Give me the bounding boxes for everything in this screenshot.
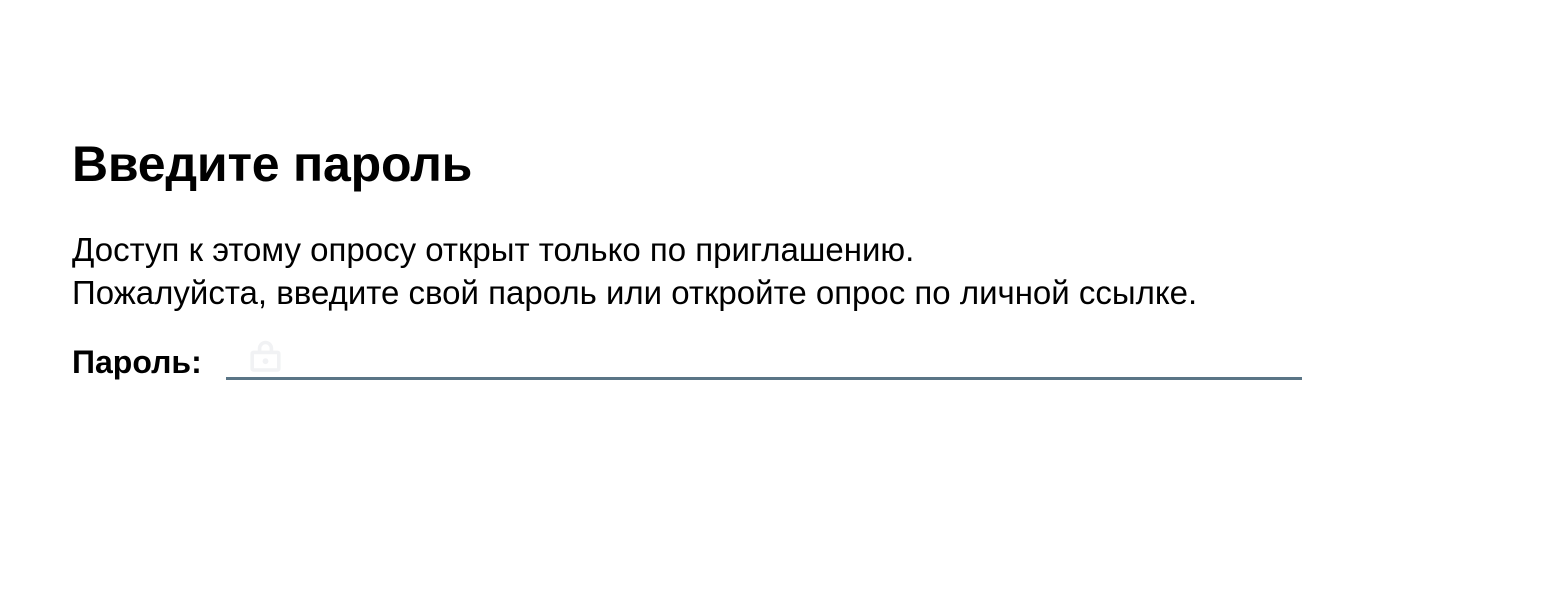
password-row: Пароль: [72,336,1312,388]
password-label: Пароль: [72,343,202,381]
page-title: Введите пароль [72,136,472,192]
password-gate-page: Введите пароль Доступ к этому опросу отк… [0,0,1552,594]
intro-text-block: Доступ к этому опросу открыт только по п… [72,228,1472,314]
password-field-wrapper[interactable] [226,336,1302,384]
password-input[interactable] [226,336,1302,380]
intro-line-2: Пожалуйста, введите свой пароль или откр… [72,271,1472,314]
intro-line-1: Доступ к этому опросу открыт только по п… [72,228,1472,271]
